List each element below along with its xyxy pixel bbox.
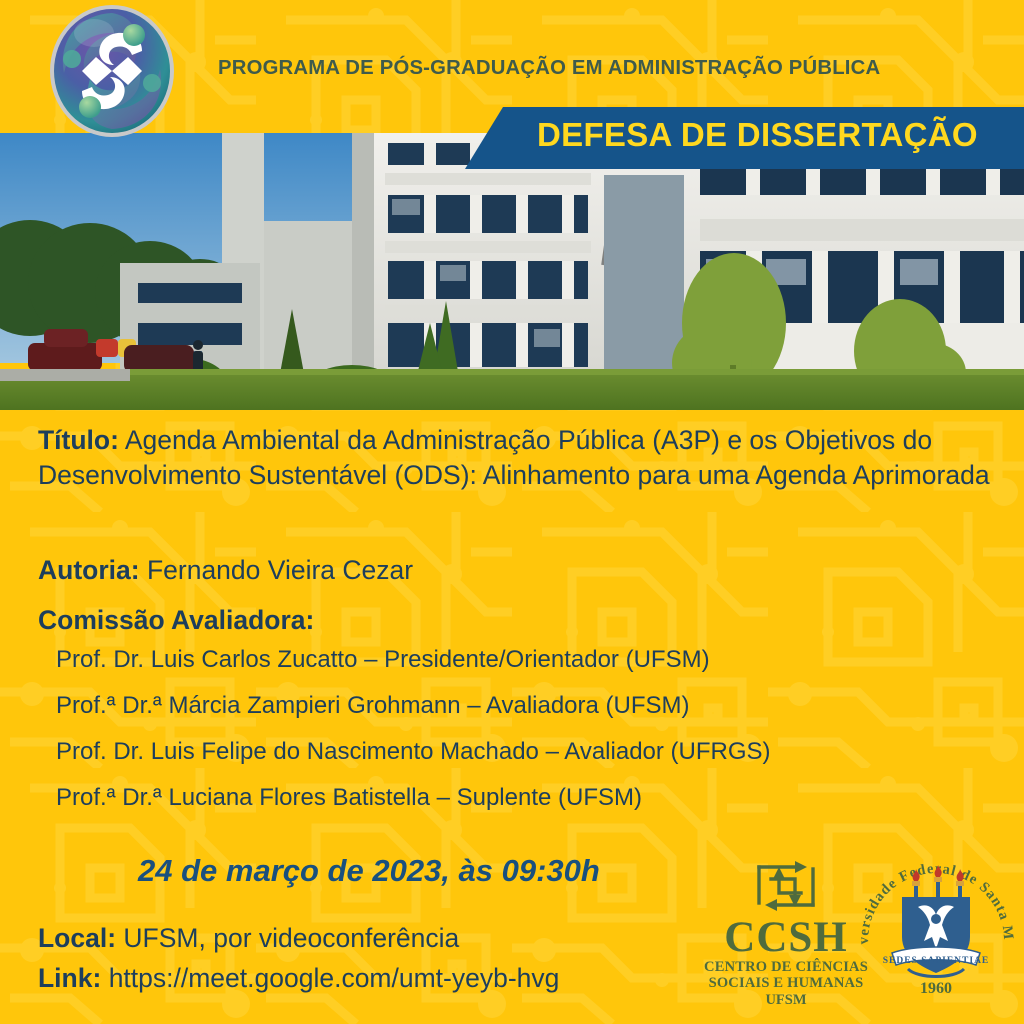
ufsm-seal-logo: Universidade Federal de Santa Maria [852,845,1020,1005]
meeting-link-url[interactable]: https://meet.google.com/umt-yeyb-hvg [109,963,560,993]
campus-building-photo: 74C [0,133,1024,410]
page-title: PROGRAMA DE PÓS-GRADUAÇÃO EM ADMINISTRAÇ… [218,56,880,80]
committee-heading: Comissão Avaliadora: [38,605,314,636]
author-name: Fernando Vieira Cezar [147,555,413,585]
ccsh-acronym: CCSH [700,918,872,959]
ufsm-year: 1960 [920,980,952,997]
list-item: Prof.ª Dr.ª Márcia Zampieri Grohmann – A… [56,694,986,718]
link-label: Link: [38,963,101,993]
ccsh-name-line2: SOCIAIS E HUMANAS [700,976,872,991]
ccsh-logo: CCSH CENTRO DE CIÊNCIAS SOCIAIS E HUMANA… [700,855,872,995]
list-item: Prof.ª Dr.ª Luciana Flores Batistella – … [56,786,986,810]
author-label: Autoria: [38,555,140,585]
author-block: Autoria: Fernando Vieira Cezar [38,555,938,586]
ccsh-arrows-icon [749,855,823,917]
ppgap-emblem-logo-icon [42,3,182,139]
list-item: Prof. Dr. Luis Carlos Zucatto – Presiden… [56,648,986,672]
ribbon-label: DEFESA DE DISSERTAÇÃO [537,116,978,154]
location-label: Local: [38,923,116,953]
committee-list: Prof. Dr. Luis Carlos Zucatto – Presiden… [56,648,986,832]
event-datetime: 24 de março de 2023, às 09:30h [138,853,600,889]
thesis-title-block: Título: Agenda Ambiental da Administraçã… [38,423,993,493]
location-block: Local: UFSM, por videoconferência [38,923,459,954]
defesa-ribbon: DEFESA DE DISSERTAÇÃO [465,107,1024,169]
ccsh-institution: UFSM [700,992,872,1009]
meeting-link-block[interactable]: Link: https://meet.google.com/umt-yeyb-h… [38,963,559,994]
list-item: Prof. Dr. Luis Felipe do Nascimento Mach… [56,740,986,764]
location-text: UFSM, por videoconferência [123,923,459,953]
ufsm-motto: SEDES SAPIENTIAE [883,956,990,966]
ccsh-name-line1: CENTRO DE CIÊNCIAS [700,960,872,975]
thesis-title-text: Agenda Ambiental da Administração Públic… [38,425,990,490]
thesis-title-label: Título: [38,425,119,455]
